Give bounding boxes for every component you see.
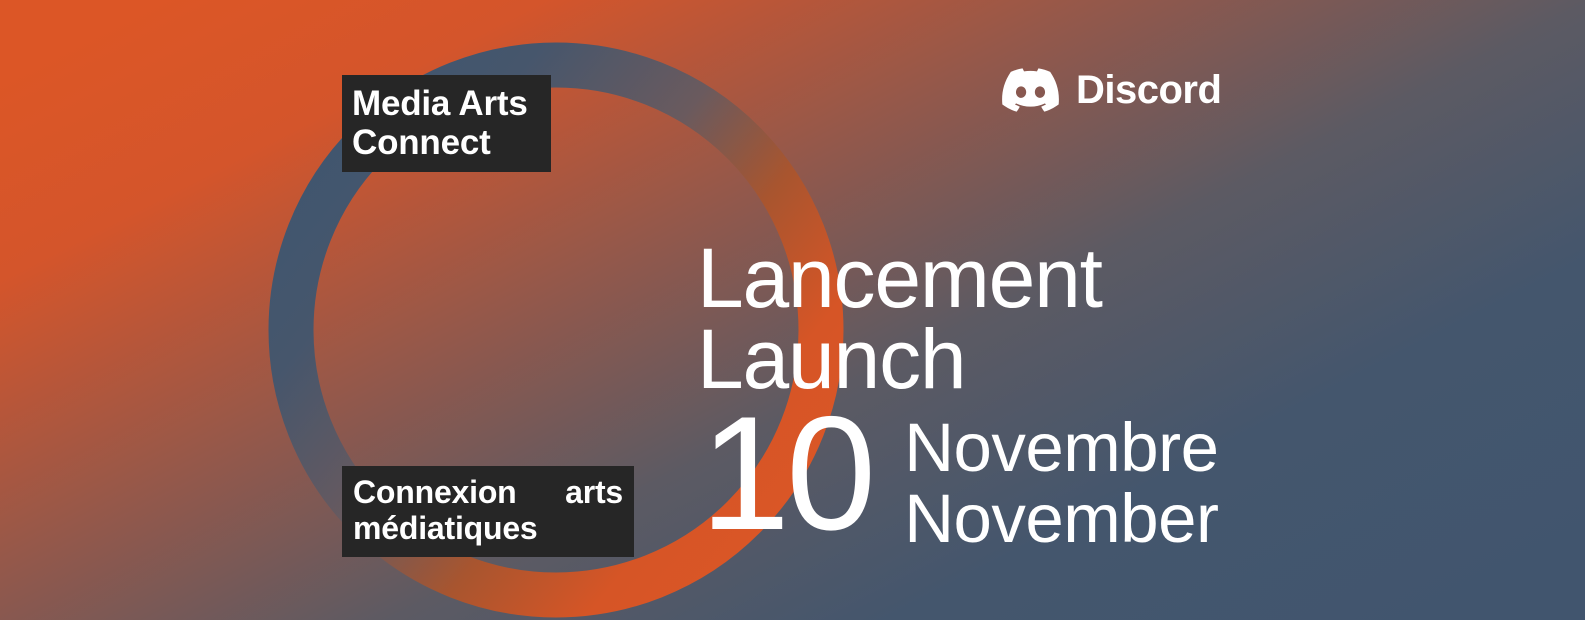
event-date: 10 Novembre November xyxy=(700,402,1219,554)
event-day: 10 xyxy=(700,404,872,543)
label-connexion-line2: médiatiques xyxy=(353,510,538,546)
label-media-arts-connect: Media Arts Connect xyxy=(342,75,551,172)
event-month: Novembre November xyxy=(904,412,1218,554)
discord-logo-lockup: Discord xyxy=(1002,68,1221,112)
discord-clyde-icon xyxy=(1002,68,1059,112)
discord-wordmark: Discord xyxy=(1076,70,1221,110)
launch-banner: Media Arts Connect Connexion arts médiat… xyxy=(0,0,1585,620)
label-connexion-arts-mediatiques: Connexion arts médiatiques xyxy=(342,466,634,557)
label-connexion-line1: Connexion arts xyxy=(353,475,623,511)
page-title: Lancement Launch xyxy=(697,238,1102,401)
label-media-arts-line2: Connect xyxy=(352,123,491,162)
label-media-arts-line1: Media Arts xyxy=(352,84,528,123)
